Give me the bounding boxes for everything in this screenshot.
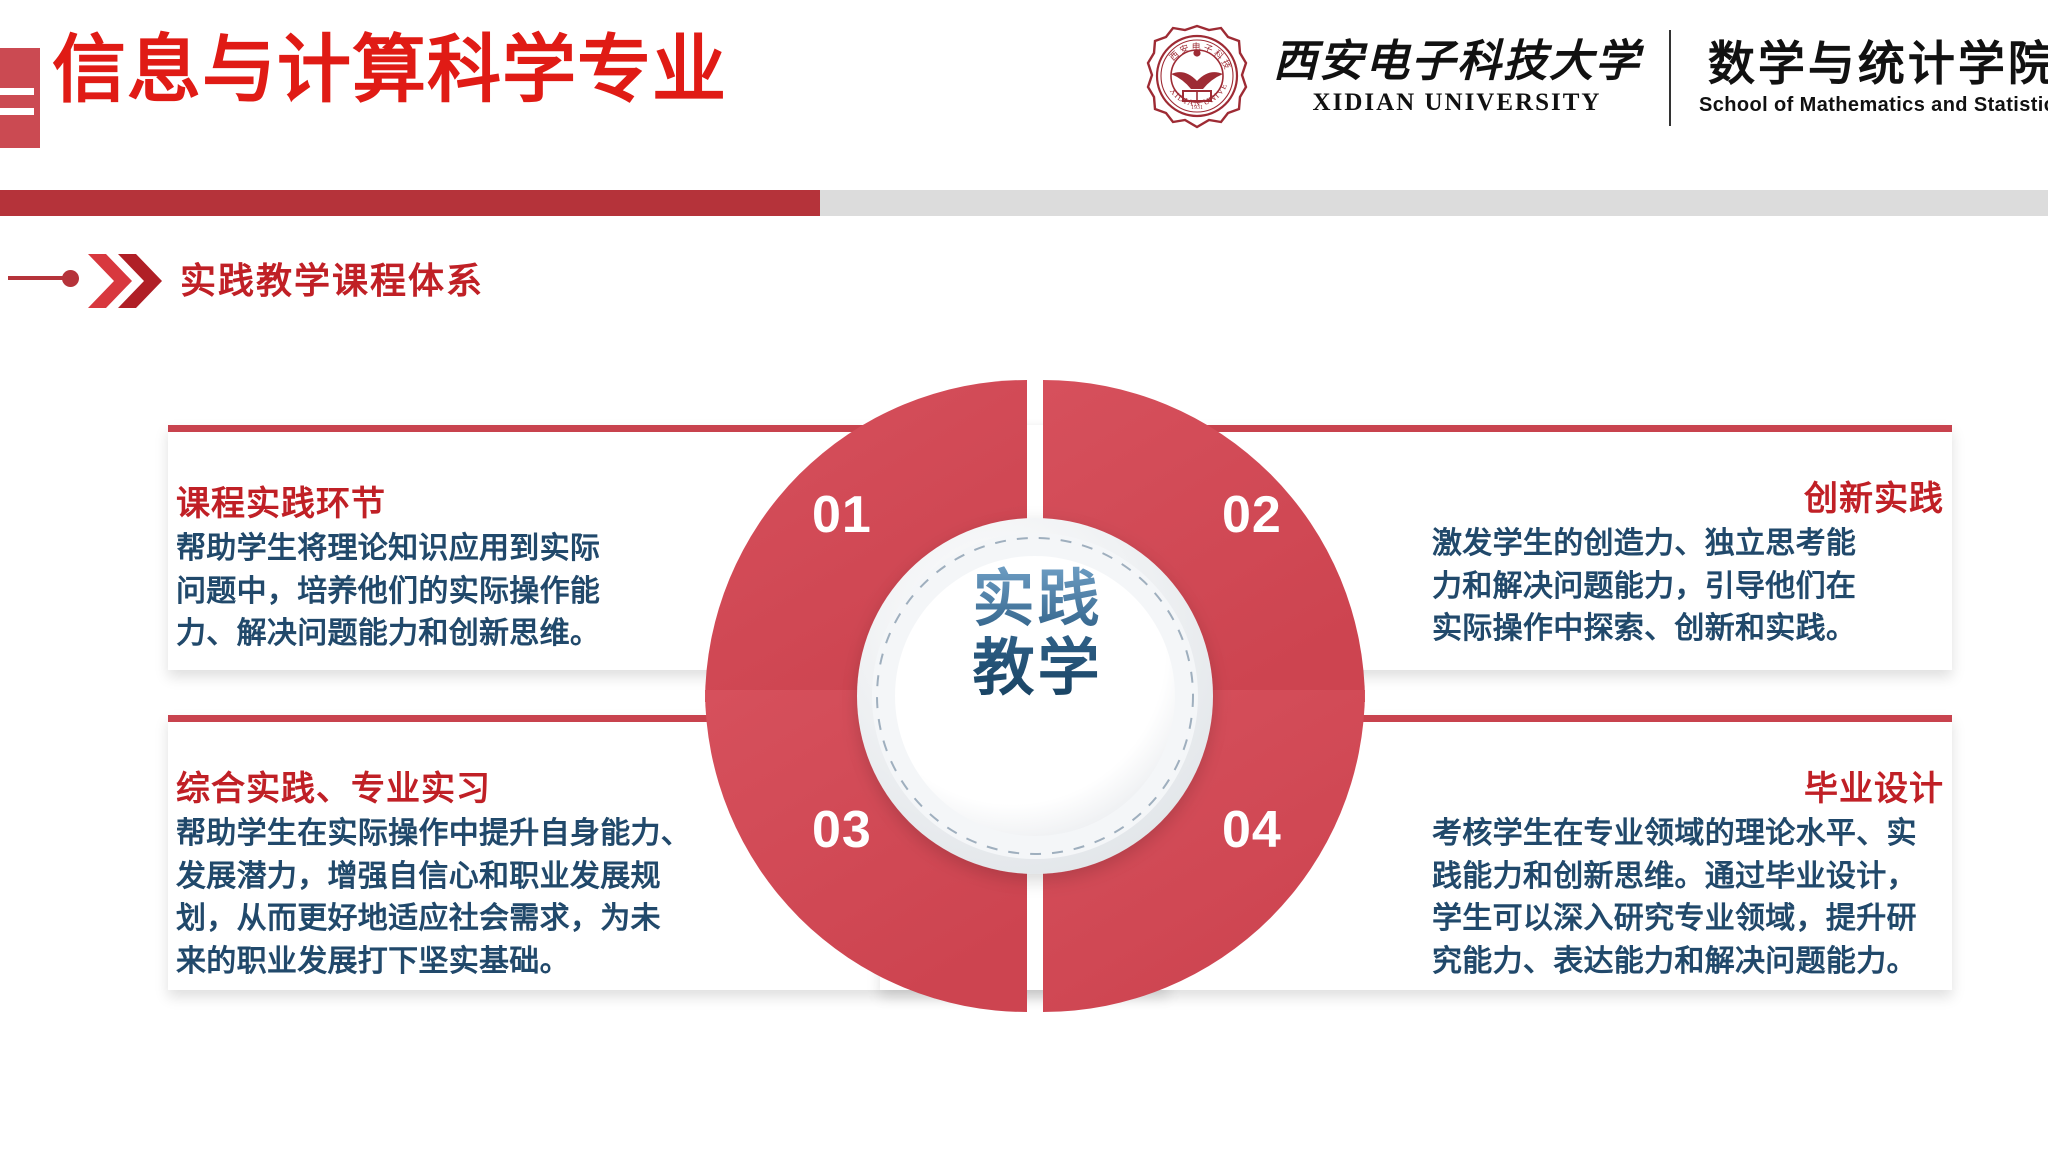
hamburger-bar-bottom (0, 108, 34, 115)
quadrant-body-01: 帮助学生将理论知识应用到实际 问题中，培养他们的实际操作能 力、解决问题能力和创… (176, 528, 676, 656)
hamburger-icon (0, 48, 40, 148)
body-line: 力、解决问题能力和创新思维。 (176, 613, 676, 656)
quadrant-title-01: 课程实践环节 (176, 485, 676, 524)
school-name-cn: 数学与统计学院 (1708, 39, 2048, 88)
center-label: 实践 教学 (930, 565, 1145, 704)
quadrant-title-02: 创新实践 (1432, 480, 1944, 519)
body-line: 划，从而更好地适应社会需求，为未 (176, 898, 676, 941)
body-line: 考核学生在专业领域的理论水平、实 (1432, 813, 1944, 856)
segment-number-03: 03 (812, 800, 872, 860)
university-name-cn: 西安电子科技大学 (1273, 39, 1641, 85)
quadrant-title-03: 综合实践、专业实习 (176, 770, 676, 809)
section-marker-dot (62, 270, 79, 287)
segment-number-02: 02 (1222, 485, 1282, 545)
body-line: 力和解决问题能力，引导他们在 (1432, 566, 1944, 609)
segment-number-04: 04 (1222, 800, 1282, 860)
hamburger-bar-top (0, 88, 34, 95)
university-name-block: 西安电子科技大学 XIDIAN UNIVERSITY (1273, 39, 1641, 116)
quadrant-text-02: 创新实践 激发学生的创造力、独立思考能 力和解决问题能力，引导他们在 实际操作中… (1432, 480, 1944, 651)
double-chevron-icon (86, 252, 166, 310)
quadrant-title-04: 毕业设计 (1432, 770, 1944, 809)
body-line: 问题中，培养他们的实际操作能 (176, 571, 676, 614)
body-line: 帮助学生在实际操作中提升自身能力、 (176, 813, 676, 856)
university-name-en: XIDIAN UNIVERSITY (1313, 89, 1602, 117)
school-name-en: School of Mathematics and Statistics (1699, 94, 2048, 117)
page-title: 信息与计算科学专业 (52, 33, 727, 107)
body-line: 实际操作中探索、创新和实践。 (1432, 608, 1944, 651)
body-line: 究能力、表达能力和解决问题能力。 (1432, 941, 1944, 984)
xidian-seal-icon: 1931 XIDIAN UNIVERSITY 西安电子科技大学 (1145, 23, 1249, 133)
body-line: 来的职业发展打下坚实基础。 (176, 941, 676, 984)
quadrant-body-04: 考核学生在专业领域的理论水平、实 践能力和创新思维。通过毕业设计， 学生可以深入… (1432, 813, 1944, 983)
body-line: 发展潜力，增强自信心和职业发展规 (176, 856, 676, 899)
quadrant-text-03: 综合实践、专业实习 帮助学生在实际操作中提升自身能力、 发展潜力，增强自信心和职… (176, 770, 676, 983)
quadrant-body-03: 帮助学生在实际操作中提升自身能力、 发展潜力，增强自信心和职业发展规 划，从而更… (176, 813, 676, 983)
logo-lockup: 1931 XIDIAN UNIVERSITY 西安电子科技大学 西安电子科技大学… (1145, 18, 2048, 138)
body-line: 激发学生的创造力、独立思考能 (1432, 523, 1944, 566)
school-name-block: 数学与统计学院 School of Mathematics and Statis… (1699, 39, 2048, 117)
slide-header: 信息与计算科学专业 1931 XIDIAN UNIVERSITY 西安电子科技大… (0, 0, 2048, 220)
quadrant-text-04: 毕业设计 考核学生在专业领域的理论水平、实 践能力和创新思维。通过毕业设计， 学… (1432, 770, 1944, 983)
body-line: 帮助学生将理论知识应用到实际 (176, 528, 676, 571)
header-rule-gray (820, 190, 2048, 216)
center-label-line2: 教学 (930, 634, 1145, 703)
logo-divider (1669, 30, 1671, 126)
body-line: 学生可以深入研究专业领域，提升研 (1432, 898, 1944, 941)
section-title: 实践教学课程体系 (180, 252, 484, 304)
header-rule-red (0, 190, 820, 216)
center-label-line1: 实践 (930, 565, 1145, 634)
quadrant-text-01: 课程实践环节 帮助学生将理论知识应用到实际 问题中，培养他们的实际操作能 力、解… (176, 485, 676, 656)
segment-number-01: 01 (812, 485, 872, 545)
practice-teaching-diagram: 01 02 03 04 实践 教学 课程实践环节 帮助学生将理论知识应用到实际 … (0, 360, 2048, 1100)
body-line: 践能力和创新思维。通过毕业设计， (1432, 856, 1944, 899)
quadrant-body-02: 激发学生的创造力、独立思考能 力和解决问题能力，引导他们在 实际操作中探索、创新… (1432, 523, 1944, 651)
section-marker-line (8, 276, 66, 280)
